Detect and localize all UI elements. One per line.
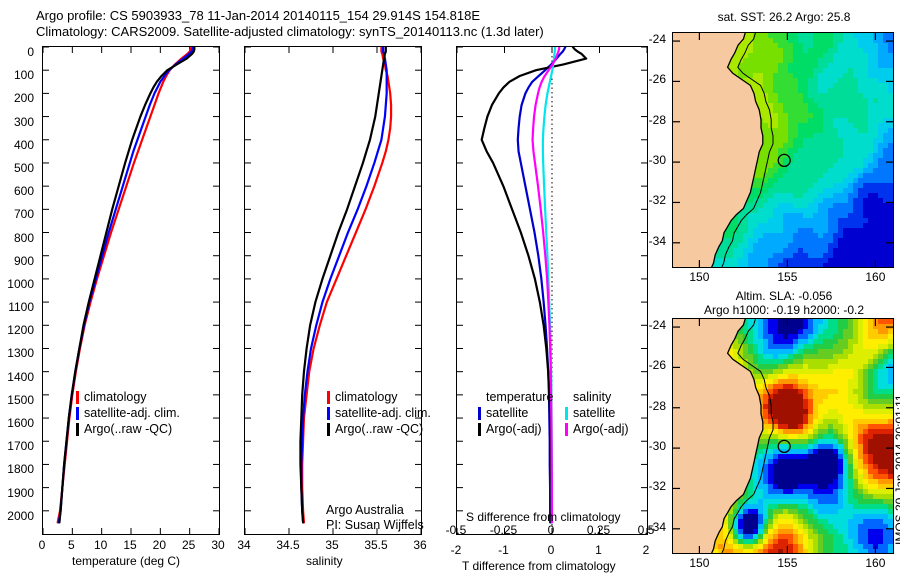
difference-profile-panel[interactable] — [456, 46, 648, 535]
axis-tick-label: 300 — [0, 115, 34, 129]
temperature-y-axis-ticks: 0100200300400500600700800900100011001200… — [0, 40, 40, 540]
legend-label: satellite — [486, 406, 528, 420]
axis-tick-label: 0 — [533, 523, 569, 537]
difference-line-temperature-satellite — [518, 47, 566, 522]
axis-tick-label: 36 — [404, 538, 436, 552]
axis-tick-label: -1 — [490, 543, 518, 557]
axis-tick-label: 160 — [859, 270, 891, 284]
axis-tick-label: 0 — [31, 538, 53, 552]
axis-tick-label: 2000 — [0, 509, 34, 523]
axis-tick-label: -26 — [640, 358, 666, 372]
axis-tick-label: 0 — [0, 45, 34, 59]
temperature-legend: climatology satellite-adj. clim. Argo(..… — [76, 389, 180, 437]
temperature-axis-label: temperature (deg C) — [72, 554, 180, 568]
difference-legend-temperature: temperature satellite Argo(-adj) — [478, 389, 553, 437]
legend-item: climatology — [327, 389, 431, 405]
temperature-profile-panel[interactable] — [42, 46, 220, 535]
axis-tick-label: 155 — [771, 270, 803, 284]
axis-tick-label: -24 — [640, 32, 666, 46]
legend-swatch-argo-raw — [76, 423, 79, 436]
temperature-x-axis-ticks: 051015202530 — [42, 538, 220, 554]
legend-label: Argo(-adj) — [573, 422, 629, 436]
credit-org: Argo Australia — [326, 503, 424, 518]
axis-tick-label: 5 — [60, 538, 82, 552]
difference-plot-canvas — [457, 47, 647, 534]
legend-header-salinity: salinity — [573, 390, 611, 404]
axis-tick-label: 900 — [0, 254, 34, 268]
axis-tick-label: 34.5 — [272, 538, 304, 552]
axis-tick-label: 10 — [90, 538, 112, 552]
axis-tick-label: -28 — [640, 113, 666, 127]
axis-tick-label: 1300 — [0, 346, 34, 360]
axis-tick-label: 1100 — [0, 300, 34, 314]
salinity-plot-canvas — [245, 47, 421, 534]
legend-swatch-argo-raw — [327, 423, 330, 436]
legend-item: satellite-adj. clim. — [327, 405, 431, 421]
axis-tick-label: 1200 — [0, 323, 34, 337]
difference-salinity-axis-label: S difference from climatology — [466, 510, 621, 524]
axis-tick-label: -2 — [442, 543, 470, 557]
legend-label: Argo(-adj) — [486, 422, 542, 436]
axis-tick-label: -0.25 — [486, 523, 522, 537]
axis-tick-label: 34 — [228, 538, 260, 552]
sla-map-x-ticks: 150155160 — [672, 556, 894, 572]
axis-tick-label: -24 — [640, 318, 666, 332]
profile-line-argo-raw-qc- — [300, 47, 385, 522]
axis-tick-label: 155 — [771, 556, 803, 570]
axis-tick-label: 200 — [0, 91, 34, 105]
difference-legend-salinity: salinity satellite Argo(-adj) — [565, 389, 629, 437]
axis-tick-label: 35 — [316, 538, 348, 552]
sla-map-title: Altim. SLA: -0.056 Argo h1000: -0.19 h20… — [672, 289, 896, 317]
credit-block: Argo Australia PI: Susan Wijffels — [326, 503, 424, 533]
legend-header-row: temperature — [478, 389, 553, 405]
axis-tick-label: 35.5 — [360, 538, 392, 552]
axis-tick-label: 20 — [148, 538, 170, 552]
legend-item: satellite — [478, 405, 553, 421]
axis-tick-label: -30 — [640, 153, 666, 167]
legend-swatch-salinity-satellite — [565, 407, 568, 420]
axis-tick-label: 1600 — [0, 416, 34, 430]
difference-temperature-axis-label: T difference from climatology — [462, 559, 616, 573]
legend-swatch-climatology — [327, 391, 330, 404]
salinity-axis-label: salinity — [306, 554, 343, 568]
axis-tick-label: -0.5 — [438, 523, 474, 537]
axis-tick-label: 0 — [537, 543, 565, 557]
legend-label: Argo(..raw -QC) — [335, 422, 423, 436]
axis-tick-label: -34 — [640, 520, 666, 534]
legend-label: climatology — [335, 390, 398, 404]
legend-label: satellite-adj. clim. — [335, 406, 431, 420]
axis-tick-label: -32 — [640, 479, 666, 493]
legend-label: satellite-adj. clim. — [84, 406, 180, 420]
salinity-x-axis-ticks: 3434.53535.536 — [244, 538, 422, 554]
axis-tick-label: 0.25 — [581, 523, 617, 537]
axis-tick-label: 1700 — [0, 439, 34, 453]
legend-label: satellite — [573, 406, 615, 420]
axis-tick-label: 100 — [0, 68, 34, 82]
axis-tick-label: 700 — [0, 207, 34, 221]
axis-tick-label: 400 — [0, 138, 34, 152]
sla-map-y-ticks: -24-26-28-30-32-34 — [640, 314, 670, 558]
credit-pi: PI: Susan Wijffels — [326, 518, 424, 533]
axis-tick-label: 600 — [0, 184, 34, 198]
profile-line-argo-raw-qc- — [59, 47, 194, 522]
axis-tick-label: 1 — [585, 543, 613, 557]
imos-timestamp-text: IMOS 20-Jan-2014 20:01:11 — [893, 394, 900, 545]
legend-item: Argo(..raw -QC) — [327, 421, 431, 437]
axis-tick-label: 1500 — [0, 393, 34, 407]
sst-map-panel[interactable] — [672, 32, 894, 268]
axis-tick-label: 150 — [683, 270, 715, 284]
legend-header-row: salinity — [565, 389, 629, 405]
legend-item: Argo(-adj) — [478, 421, 553, 437]
axis-tick-label: 1000 — [0, 277, 34, 291]
axis-tick-label: -28 — [640, 399, 666, 413]
sla-title-line-1: Altim. SLA: -0.056 — [672, 289, 896, 303]
salinity-legend: climatology satellite-adj. clim. Argo(..… — [327, 389, 431, 437]
axis-tick-label: 150 — [683, 556, 715, 570]
axis-tick-label: 25 — [178, 538, 200, 552]
legend-swatch-temperature-argo — [478, 423, 481, 436]
axis-tick-label: 800 — [0, 231, 34, 245]
axis-tick-label: 30 — [207, 538, 229, 552]
difference-bottom-ticks: -2-1012 — [456, 543, 648, 558]
legend-label: climatology — [84, 390, 147, 404]
axis-tick-label: 15 — [119, 538, 141, 552]
legend-swatch-salinity-argo — [565, 423, 568, 436]
sla-map-panel[interactable] — [672, 318, 894, 554]
legend-header-temperature: temperature — [486, 390, 553, 404]
page-title: Argo profile: CS 5903933_78 11-Jan-2014 … — [36, 8, 544, 40]
axis-tick-label: 1400 — [0, 370, 34, 384]
salinity-profile-panel[interactable] — [244, 46, 422, 535]
title-line-2: Climatology: CARS2009. Satellite-adjuste… — [36, 24, 544, 40]
axis-tick-label: 500 — [0, 161, 34, 175]
axis-tick-label: -32 — [640, 193, 666, 207]
legend-label: Argo(..raw -QC) — [84, 422, 172, 436]
legend-swatch-satellite-adj — [76, 407, 79, 420]
sst-map-canvas — [673, 33, 893, 267]
profile-line-satellite-adj-clim- — [59, 47, 193, 522]
imos-timestamp: IMOS 20-Jan-2014 20:01:11 — [893, 545, 900, 559]
legend-item: satellite-adj. clim. — [76, 405, 180, 421]
legend-item: climatology — [76, 389, 180, 405]
legend-item: Argo(..raw -QC) — [76, 421, 180, 437]
legend-item: Argo(-adj) — [565, 421, 629, 437]
axis-tick-label: 1900 — [0, 486, 34, 500]
axis-tick-label: 160 — [859, 556, 891, 570]
profile-line-climatology — [302, 47, 391, 522]
temperature-plot-canvas — [43, 47, 219, 534]
axis-tick-label: -26 — [640, 72, 666, 86]
axis-tick-label: -30 — [640, 439, 666, 453]
title-line-1: Argo profile: CS 5903933_78 11-Jan-2014 … — [36, 8, 544, 24]
sst-map-x-ticks: 150155160 — [672, 270, 894, 286]
axis-tick-label: 1800 — [0, 462, 34, 476]
sst-map-y-ticks: -24-26-28-30-32-34 — [640, 28, 670, 272]
sla-map-canvas — [673, 319, 893, 553]
legend-item: satellite — [565, 405, 629, 421]
profile-line-climatology — [58, 47, 192, 522]
sla-title-line-2: Argo h1000: -0.19 h2000: -0.2 — [672, 303, 896, 317]
legend-swatch-temperature-satellite — [478, 407, 481, 420]
difference-top-ticks: -0.5-0.2500.250.5 — [456, 523, 648, 538]
legend-swatch-climatology — [76, 391, 79, 404]
axis-tick-label: -34 — [640, 234, 666, 248]
legend-swatch-satellite-adj — [327, 407, 330, 420]
sst-map-title: sat. SST: 26.2 Argo: 25.8 — [672, 10, 896, 24]
